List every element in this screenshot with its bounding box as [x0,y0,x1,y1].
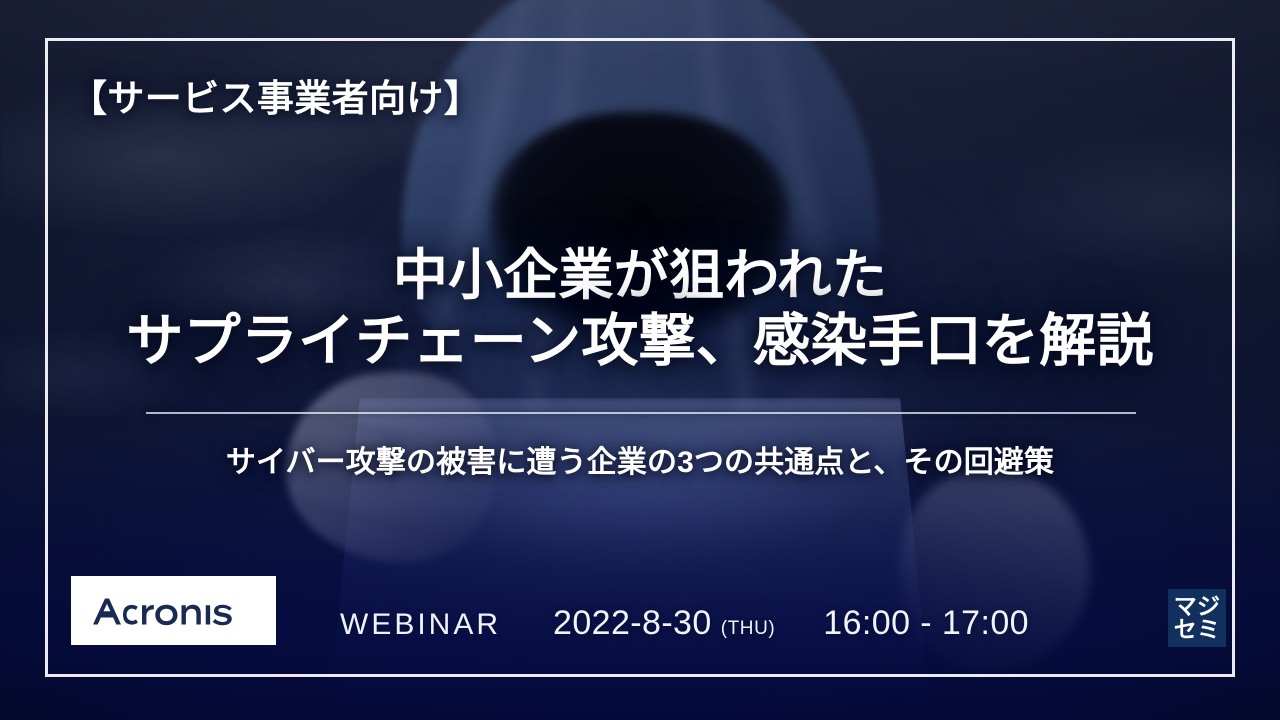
majiseminar-logo-line-2: セミ [1174,618,1220,641]
title-divider [146,412,1136,414]
title-line-2: サプライチェーン攻撃、感染手口を解説 [0,308,1280,374]
majiseminar-logo: マジ セミ [1168,589,1226,647]
eyebrow-label: 【サービス事業者向け】 [70,68,481,122]
acronis-logo [71,576,276,645]
webinar-day-of-week: (THU) [721,618,776,640]
webinar-label: WEBINAR [340,608,501,642]
webinar-date: 2022-8-30 [553,604,712,643]
subtitle: サイバー攻撃の被害に遭う企業の3つの共通点と、その回避策 [0,437,1280,481]
title-line-1: 中小企業が狙われた [0,244,1280,308]
acronis-wordmark-icon [90,594,258,628]
majiseminar-logo-line-1: マジ [1174,595,1220,618]
webinar-info: WEBINAR 2022-8-30 (THU) 16:00 - 17:00 [340,604,1029,643]
webinar-time: 16:00 - 17:00 [823,604,1029,643]
title-block: 中小企業が狙われた サプライチェーン攻撃、感染手口を解説 [0,244,1280,374]
webinar-banner: 【サービス事業者向け】 中小企業が狙われた サプライチェーン攻撃、感染手口を解説… [0,0,1280,720]
